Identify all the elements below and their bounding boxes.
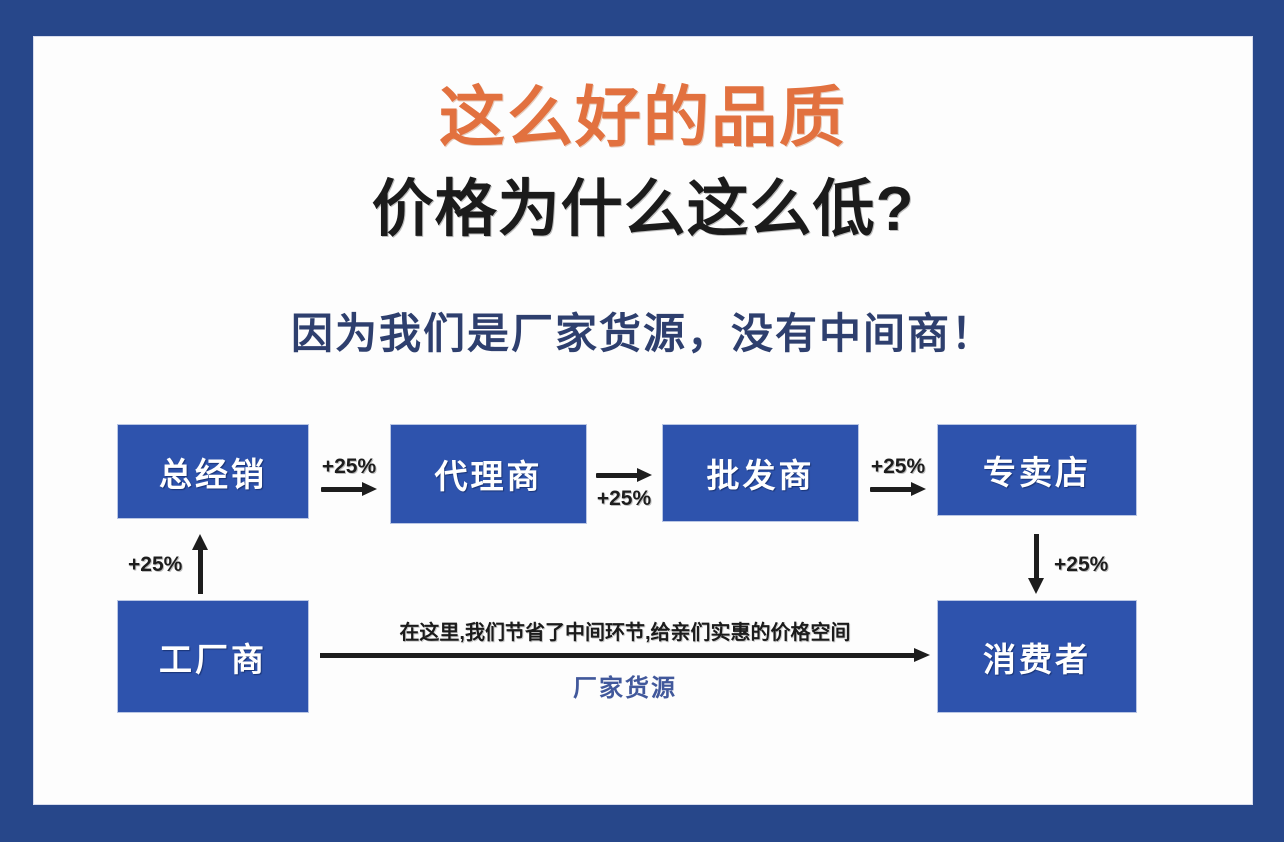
node-agent: 代理商 [390,424,587,524]
node-wholesaler: 批发商 [662,424,859,522]
connector-store-to-consumer: +25% [1028,534,1108,594]
node-label: 专卖店 [983,446,1091,494]
direct-channel-subcaption: 厂家货源 [320,668,930,703]
node-label: 批发商 [707,449,815,497]
node-retail-store: 专卖店 [937,424,1137,516]
node-label: 总经销 [159,448,267,496]
arrow-up-icon [192,534,208,594]
markup-label: +25% [128,554,182,575]
connector-distributor-to-agent: +25% [312,444,386,508]
connector-factory-to-consumer-direct: 在这里,我们节省了中间环节,给亲们实惠的价格空间 厂家货源 [320,616,930,706]
poster-card: 这么好的品质 价格为什么这么低? 因为我们是厂家货源，没有中间商！ 总经销 +2… [33,36,1253,805]
node-consumer: 消费者 [937,600,1137,713]
markup-label: +25% [1054,554,1108,575]
poster-frame: 这么好的品质 价格为什么这么低? 因为我们是厂家货源，没有中间商！ 总经销 +2… [0,0,1284,842]
markup-label: +25% [597,488,651,509]
node-general-distributor: 总经销 [117,424,309,519]
node-label: 工厂商 [159,633,267,681]
arrow-right-icon [321,482,377,496]
markup-label: +25% [871,456,925,477]
arrow-down-icon [1028,534,1044,594]
connector-wholesaler-to-store: +25% [861,444,935,508]
arrow-right-icon [596,468,652,482]
connector-agent-to-wholesaler: +25% [587,456,661,520]
markup-label: +25% [322,456,376,477]
supply-chain-diagram: 总经销 +25% 代理商 +25% 批发商 +25% [33,36,1253,805]
connector-factory-to-distributor: +25% [128,534,208,594]
node-factory: 工厂商 [117,600,309,713]
arrow-right-icon [870,482,926,496]
direct-channel-caption: 在这里,我们节省了中间环节,给亲们实惠的价格空间 [320,616,930,645]
node-label: 代理商 [435,450,543,498]
node-label: 消费者 [983,633,1091,681]
arrow-right-long-icon [320,648,930,662]
